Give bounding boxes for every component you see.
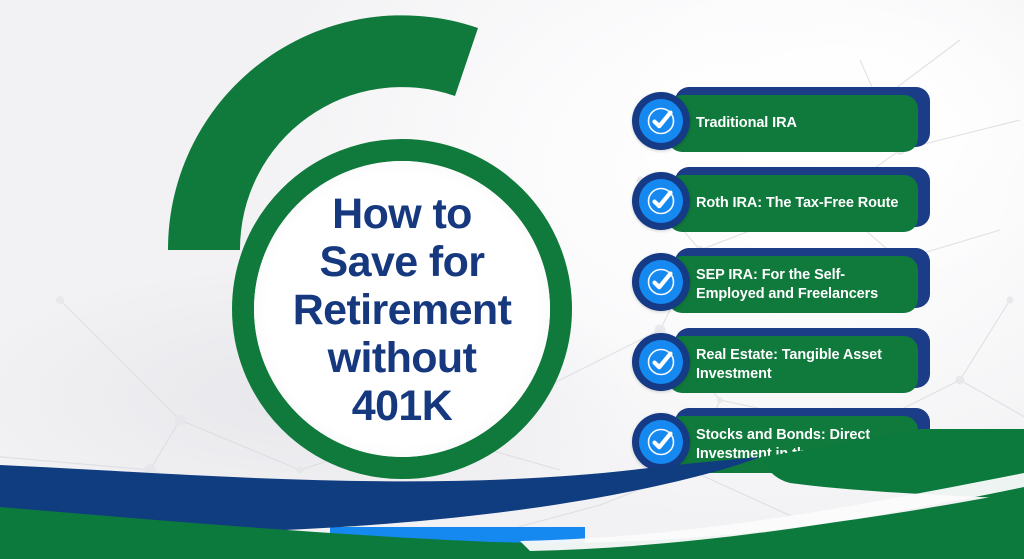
page-title: How to Save for Retirement without 401K <box>262 160 542 460</box>
pill-body[interactable]: Traditional IRA <box>668 95 918 152</box>
list-item[interactable]: SEP IRA: For the Self-Employed and Freel… <box>630 252 930 316</box>
title-line-1: How to <box>332 190 472 238</box>
pill-body[interactable]: SEP IRA: For the Self-Employed and Freel… <box>668 256 918 313</box>
check-circle-icon <box>632 253 690 311</box>
pill-body[interactable]: Roth IRA: The Tax-Free Route <box>668 175 918 232</box>
pill-body[interactable]: Real Estate: Tangible Asset Investment <box>668 336 918 393</box>
title-line-5: 401K <box>352 382 452 430</box>
list-item-label: Roth IRA: The Tax-Free Route <box>668 194 910 213</box>
check-circle-icon <box>632 172 690 230</box>
infographic-canvas: How to Save for Retirement without 401K … <box>0 0 1024 559</box>
list-item-label: SEP IRA: For the Self-Employed and Freel… <box>668 266 918 304</box>
title-line-3: Retirement <box>293 286 512 334</box>
bottom-wave-decoration <box>0 429 1024 559</box>
title-line-4: without <box>328 334 477 382</box>
list-item[interactable]: Traditional IRA <box>630 91 930 155</box>
list-item[interactable]: Real Estate: Tangible Asset Investment <box>630 332 930 396</box>
title-line-2: Save for <box>320 238 485 286</box>
retirement-options-list: Traditional IRA Roth IRA: The Tax-Free R… <box>630 80 960 485</box>
check-circle-icon <box>632 333 690 391</box>
check-circle-icon <box>632 92 690 150</box>
list-item-label: Real Estate: Tangible Asset Investment <box>668 346 918 384</box>
list-item[interactable]: Roth IRA: The Tax-Free Route <box>630 171 930 235</box>
